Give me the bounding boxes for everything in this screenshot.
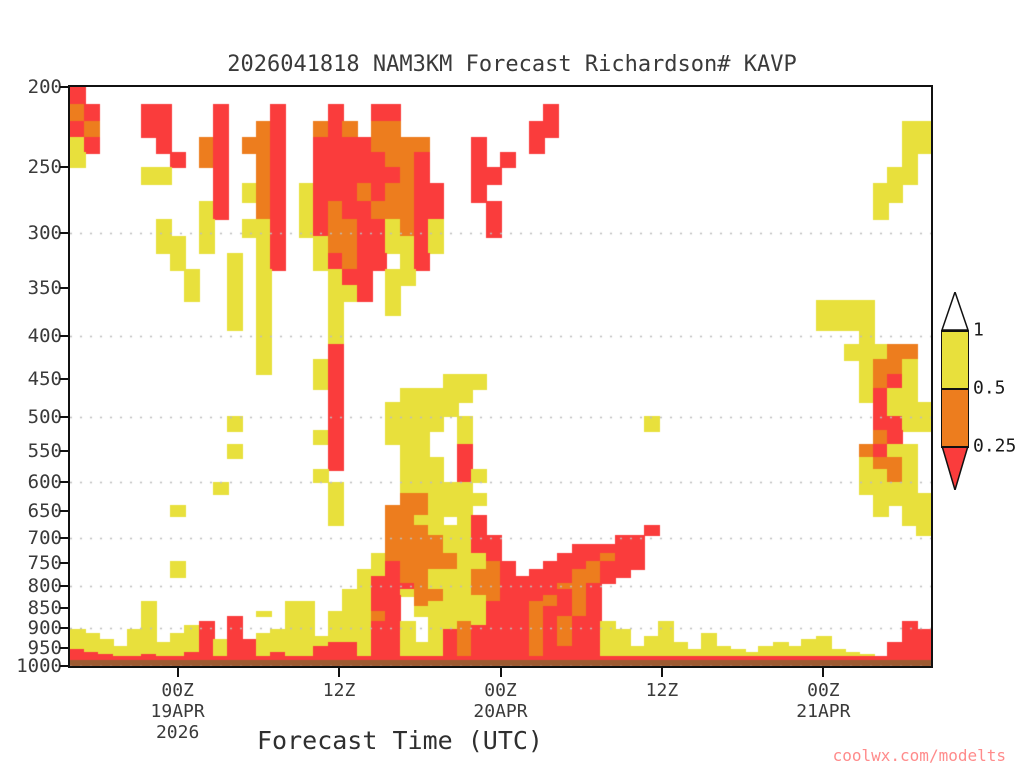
y-axis-tick-label: 800 <box>28 575 62 597</box>
x-axis-tick-label: 00Z 21APR <box>796 680 850 722</box>
y-axis-tick-mark <box>60 335 68 337</box>
y-axis-tick-mark <box>60 166 68 168</box>
x-axis-title: Forecast Time (UTC) <box>0 726 800 755</box>
y-axis-tick-label: 600 <box>28 471 62 493</box>
y-axis-tick-label: 850 <box>28 597 62 619</box>
plot-area <box>68 85 933 668</box>
y-axis-tick-label: 750 <box>28 552 62 574</box>
y-axis-tick-label: 450 <box>28 368 62 390</box>
y-axis-tick-label: 650 <box>28 500 62 522</box>
page-title: 2026041818 NAM3KM Forecast Richardson# K… <box>0 52 1024 77</box>
x-axis-tick-mark <box>661 668 663 677</box>
y-axis-tick-mark <box>60 481 68 483</box>
y-axis-tick-label: 350 <box>28 277 62 299</box>
y-axis-tick-mark <box>60 647 68 649</box>
y-axis-tick-label: 700 <box>28 527 62 549</box>
colorbar-cap-above <box>941 292 969 330</box>
x-axis-tick-label: 12Z <box>323 680 356 701</box>
colorbar-cap-below <box>941 446 969 490</box>
y-axis-tick-mark <box>60 287 68 289</box>
y-axis-tick-mark <box>60 585 68 587</box>
y-axis-tick-label: 500 <box>28 406 62 428</box>
y-axis-tick-mark <box>60 232 68 234</box>
y-axis-tick-label: 200 <box>28 76 62 98</box>
colorbar-label: 1 <box>973 320 984 341</box>
y-axis-tick-mark <box>60 416 68 418</box>
colorbar-legend: 10.50.25 <box>941 292 971 482</box>
forecast-richardson-chart: 2026041818 NAM3KM Forecast Richardson# K… <box>0 0 1024 768</box>
y-axis-tick-mark <box>60 562 68 564</box>
colorbar-divider <box>941 446 969 448</box>
y-axis-tick-label: 1000 <box>16 655 62 677</box>
y-axis-tick-mark <box>60 537 68 539</box>
y-axis-tick-label: 400 <box>28 325 62 347</box>
colorbar-band-orange <box>941 388 969 446</box>
y-axis-tick-label: 300 <box>28 222 62 244</box>
y-axis-tick-mark <box>60 510 68 512</box>
colorbar-divider <box>941 388 969 390</box>
y-axis-tick-label: 250 <box>28 156 62 178</box>
y-axis-tick-mark <box>60 665 68 667</box>
x-axis-tick-mark <box>500 668 502 677</box>
watermark: coolwx.com/modelts <box>833 746 1006 765</box>
y-axis-tick-mark <box>60 627 68 629</box>
richardson-heatmap <box>70 87 931 666</box>
y-axis: 2002503003504004505005506006507007508008… <box>0 0 62 768</box>
colorbar-band-yellow <box>941 330 969 388</box>
colorbar-label: 0.25 <box>973 436 1016 457</box>
y-axis-tick-mark <box>60 450 68 452</box>
y-axis-tick-label: 550 <box>28 440 62 462</box>
x-axis-tick-label: 00Z 20APR <box>473 680 527 722</box>
colorbar-label: 0.5 <box>973 378 1006 399</box>
x-axis-tick-mark <box>338 668 340 677</box>
y-axis-tick-mark <box>60 607 68 609</box>
x-axis-tick-mark <box>822 668 824 677</box>
colorbar-divider <box>941 330 969 332</box>
x-axis-tick-label: 12Z <box>646 680 679 701</box>
y-axis-tick-mark <box>60 378 68 380</box>
y-axis-tick-mark <box>60 86 68 88</box>
x-axis-tick-mark <box>177 668 179 677</box>
